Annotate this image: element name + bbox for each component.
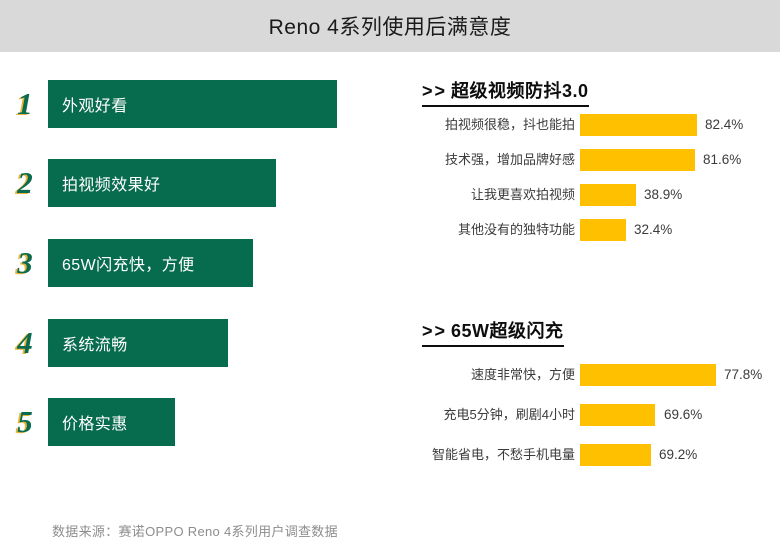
bar-value-label: 32.4% bbox=[634, 217, 672, 243]
chevron-right-icon: >> bbox=[422, 81, 451, 101]
bar-track: 38.9% bbox=[580, 182, 780, 208]
bar-category-label: 拍视频很稳，抖也能拍 bbox=[400, 112, 575, 138]
page-title: Reno 4系列使用后满意度 bbox=[269, 11, 512, 41]
bar-value-label: 69.6% bbox=[664, 402, 702, 428]
rank-bar: 系统流畅 bbox=[48, 319, 228, 367]
chart-bar-row: 速度非常快，方便 77.8% bbox=[400, 362, 780, 388]
charts-panel: >>超级视频防抖3.0 拍视频很稳，抖也能拍 82.4% 技术强，增加品牌好感 … bbox=[400, 52, 780, 551]
rank-bar: 拍视频效果好 bbox=[48, 159, 276, 207]
chart-heading-text: 65W超级闪充 bbox=[451, 321, 564, 341]
rank-number: 1 bbox=[10, 80, 40, 128]
ranking-panel: 1 外观好看 2 拍视频效果好 3 65W闪充快，方便 4 系统流畅 5 价格实… bbox=[0, 52, 400, 551]
rank-label: 系统流畅 bbox=[48, 331, 128, 355]
bar-fill bbox=[580, 364, 716, 386]
chart-bar-row: 技术强，增加品牌好感 81.6% bbox=[400, 147, 780, 173]
chart-heading: >>超级视频防抖3.0 bbox=[422, 77, 589, 107]
bar-category-label: 充电5分钟，刷剧4小时 bbox=[400, 402, 575, 428]
rank-bar: 外观好看 bbox=[48, 80, 337, 128]
chart-bar-row: 拍视频很稳，抖也能拍 82.4% bbox=[400, 112, 780, 138]
bar-track: 69.6% bbox=[580, 402, 780, 428]
title-bar: Reno 4系列使用后满意度 bbox=[0, 0, 780, 52]
chart-bar-row: 其他没有的独特功能 32.4% bbox=[400, 217, 780, 243]
bar-category-label: 让我更喜欢拍视频 bbox=[400, 182, 575, 208]
rank-bar: 价格实惠 bbox=[48, 398, 175, 446]
rank-label: 65W闪充快，方便 bbox=[48, 251, 195, 275]
bar-value-label: 82.4% bbox=[705, 112, 743, 138]
bar-value-label: 38.9% bbox=[644, 182, 682, 208]
rank-label: 价格实惠 bbox=[48, 410, 128, 434]
rank-bar: 65W闪充快，方便 bbox=[48, 239, 253, 287]
rank-number: 2 bbox=[10, 159, 40, 207]
bar-fill bbox=[580, 149, 695, 171]
bar-fill bbox=[580, 184, 636, 206]
bar-fill bbox=[580, 219, 626, 241]
chart-heading-text: 超级视频防抖3.0 bbox=[451, 81, 589, 101]
bar-value-label: 81.6% bbox=[703, 147, 741, 173]
data-source-note: 数据来源：赛诺OPPO Reno 4系列用户调查数据 bbox=[52, 521, 338, 540]
chart-heading: >>65W超级闪充 bbox=[422, 317, 564, 347]
chevron-right-icon: >> bbox=[422, 321, 451, 341]
bar-track: 69.2% bbox=[580, 442, 780, 468]
bar-fill bbox=[580, 114, 697, 136]
bar-category-label: 技术强，增加品牌好感 bbox=[400, 147, 575, 173]
bar-track: 81.6% bbox=[580, 147, 780, 173]
bar-category-label: 智能省电，不愁手机电量 bbox=[400, 442, 575, 468]
bar-value-label: 77.8% bbox=[724, 362, 762, 388]
bar-value-label: 69.2% bbox=[659, 442, 697, 468]
rank-label: 拍视频效果好 bbox=[48, 171, 160, 195]
chart-bar-row: 让我更喜欢拍视频 38.9% bbox=[400, 182, 780, 208]
bar-track: 77.8% bbox=[580, 362, 780, 388]
bar-track: 32.4% bbox=[580, 217, 780, 243]
chart-bar-row: 充电5分钟，刷剧4小时 69.6% bbox=[400, 402, 780, 428]
bar-fill bbox=[580, 404, 655, 426]
bar-category-label: 其他没有的独特功能 bbox=[400, 217, 575, 243]
chart-bar-row: 智能省电，不愁手机电量 69.2% bbox=[400, 442, 780, 468]
rank-number: 3 bbox=[10, 239, 40, 287]
rank-number: 4 bbox=[10, 319, 40, 367]
rank-label: 外观好看 bbox=[48, 92, 128, 116]
bar-track: 82.4% bbox=[580, 112, 780, 138]
bar-category-label: 速度非常快，方便 bbox=[400, 362, 575, 388]
bar-fill bbox=[580, 444, 651, 466]
rank-number: 5 bbox=[10, 398, 40, 446]
